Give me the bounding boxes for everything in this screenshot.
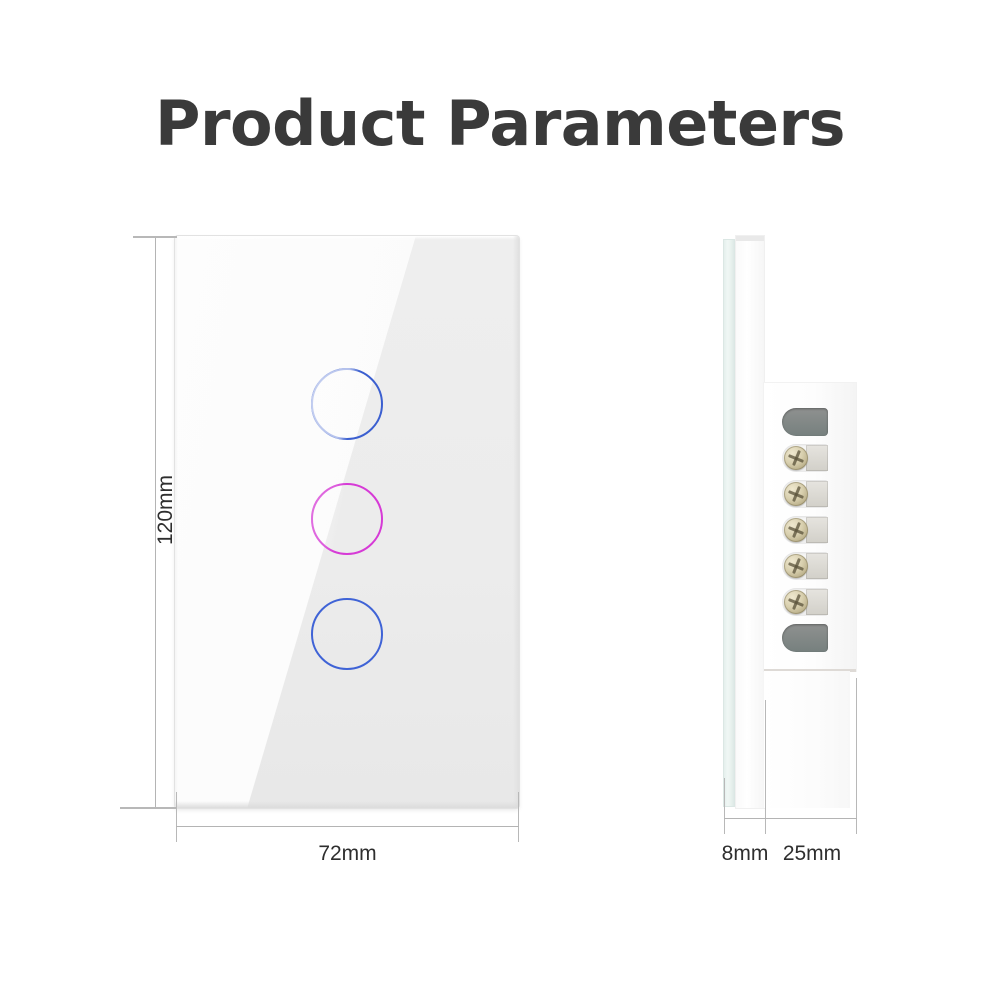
terminal-slot-1 <box>782 444 828 472</box>
dim-thickness-line <box>724 818 766 819</box>
dim-width-line <box>176 826 519 827</box>
product-parameters-page: Product Parameters 120mm 72mm <box>0 0 1000 1000</box>
terminal-screw-2 <box>784 482 808 506</box>
panel-top-rim <box>175 236 519 240</box>
terminal-plate-3 <box>806 517 828 543</box>
terminal-screw-4 <box>784 554 808 578</box>
terminal-slot-4 <box>782 552 828 580</box>
dim-depth-line <box>765 818 857 819</box>
touch-button-top[interactable] <box>311 368 383 440</box>
touch-button-top-glass-overlay <box>311 368 383 440</box>
switch-body-skirt <box>764 671 850 808</box>
terminal-slot-3 <box>782 516 828 544</box>
dim-depth-ext-right <box>856 678 857 834</box>
terminal-screw-1 <box>784 446 808 470</box>
panel-bottom-rim <box>175 801 519 808</box>
touch-button-middle-glass-overlay <box>311 483 383 555</box>
dim-width-ext-right <box>518 792 519 842</box>
touch-button-bottom[interactable] <box>311 598 383 670</box>
panel-right-rim <box>513 236 519 808</box>
dim-height-label: 120mm <box>154 475 178 545</box>
dim-width-ext-left <box>176 792 177 842</box>
terminal-block <box>782 408 830 646</box>
dim-height-tick-bottom <box>120 807 177 809</box>
terminal-plate-2 <box>806 481 828 507</box>
dim-width-label: 72mm <box>176 842 519 866</box>
dim-depth-label: 25mm <box>766 842 858 866</box>
terminal-slot-2 <box>782 480 828 508</box>
terminal-plate-5 <box>806 589 828 615</box>
terminal-slot-5 <box>782 588 828 616</box>
front-view-panel <box>175 236 519 808</box>
glass-edge-strip <box>724 240 734 806</box>
terminal-slot-blank-bottom <box>782 624 828 652</box>
page-title: Product Parameters <box>0 88 1000 160</box>
terminal-screw-3 <box>784 518 808 542</box>
terminal-slot-blank-top <box>782 408 828 436</box>
side-view-panel <box>724 236 856 808</box>
dim-thickness-ext-left <box>724 778 725 834</box>
glass-panel <box>175 236 519 808</box>
dim-thickness-ext-right <box>765 700 766 834</box>
terminal-screw-5 <box>784 590 808 614</box>
glass-inner-plate <box>736 236 764 808</box>
touch-button-middle[interactable] <box>311 483 383 555</box>
terminal-plate-1 <box>806 445 828 471</box>
terminal-plate-4 <box>806 553 828 579</box>
glass-inner-plate-cap <box>736 236 764 241</box>
